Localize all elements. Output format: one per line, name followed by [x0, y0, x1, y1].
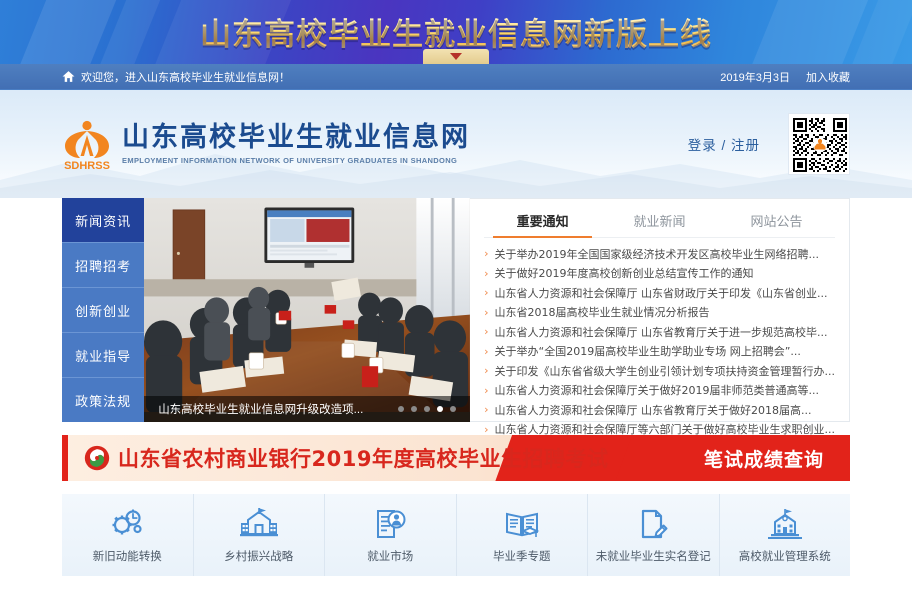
quick-link-unemployed-registration[interactable]: 未就业毕业生实名登记 — [588, 494, 720, 576]
quick-link-university-system[interactable]: 高校就业管理系统 — [720, 494, 851, 576]
carousel-dot[interactable] — [450, 406, 456, 412]
sidebar-item-guidance[interactable]: 就业指导 — [62, 333, 144, 378]
news-panel: 重要通知 就业新闻 网站公告 › 关于举办2019年全国国家级经济技术开发区高校… — [470, 198, 850, 422]
sidebar-item-label: 政策法规 — [75, 391, 131, 410]
chevron-right-icon: › — [484, 325, 488, 338]
quick-link-new-old-energy[interactable]: 新旧动能转换 — [62, 494, 194, 576]
list-item[interactable]: › 山东省人力资源和社会保障厅 山东省财政厅关于印发《山东省创业... — [484, 283, 835, 303]
current-date: 2019年3月3日 — [720, 69, 790, 85]
promo-headline: 山东高校毕业生就业信息网新版上线 — [0, 9, 912, 54]
sidebar-item-label: 招聘招考 — [75, 256, 131, 275]
list-item[interactable]: › 山东省人力资源和社会保障厅 山东省教育厅关于进一步规范高校毕... — [484, 322, 835, 342]
add-favorite-link[interactable]: 加入收藏 — [806, 69, 850, 85]
sidebar-item-label: 新闻资讯 — [75, 211, 131, 230]
tab-important-notice[interactable]: 重要通知 — [484, 207, 601, 237]
main-content: 新闻资讯 招聘招考 创新创业 就业指导 政策法规 — [0, 198, 912, 576]
top-section: 新闻资讯 招聘招考 创新创业 就业指导 政策法规 — [62, 198, 850, 422]
quick-link-label: 乡村振兴战略 — [224, 548, 293, 564]
list-item[interactable]: › 关于做好2019年度高校创新创业总结宣传工作的通知 — [484, 264, 835, 284]
welcome-bar: 欢迎您，进入山东高校毕业生就业信息网！ 2019年3月3日 加入收藏 — [0, 64, 912, 90]
document-pencil-icon — [638, 507, 668, 541]
welcome-text: 欢迎您，进入山东高校毕业生就业信息网！ — [81, 69, 290, 85]
quick-link-label: 毕业季专题 — [493, 548, 551, 564]
gears-timer-icon — [110, 507, 144, 541]
open-book-graduation-icon — [504, 507, 540, 541]
carousel-dot[interactable] — [411, 406, 417, 412]
news-title: 关于做好2019年度高校创新创业总结宣传工作的通知 — [495, 265, 754, 281]
chevron-right-icon: › — [484, 384, 488, 397]
brand-text-group: 山东高校毕业生就业信息网 EMPLOYMENT INFORMATION NETW… — [122, 123, 470, 166]
document-person-icon — [374, 507, 406, 541]
carousel-dot-active[interactable] — [437, 406, 443, 412]
carousel-dot[interactable] — [424, 406, 430, 412]
category-sidebar: 新闻资讯 招聘招考 创新创业 就业指导 政策法规 — [62, 198, 144, 422]
promo-banner[interactable]: 山东高校毕业生就业信息网新版上线 — [0, 0, 912, 64]
sidebar-item-innovation[interactable]: 创新创业 — [62, 288, 144, 333]
chevron-right-icon: › — [484, 364, 488, 377]
quick-link-label: 就业市场 — [367, 548, 413, 564]
news-title: 关于印发《山东省省级大学生创业引领计划专项扶持资金管理暂行办... — [495, 363, 836, 379]
list-item[interactable]: › 关于印发《山东省省级大学生创业引领计划专项扶持资金管理暂行办... — [484, 361, 835, 381]
welcome-greeting-group: 欢迎您，进入山东高校毕业生就业信息网！ — [62, 69, 290, 85]
chevron-right-icon: › — [484, 423, 488, 436]
qr-code-icon[interactable] — [788, 113, 850, 175]
news-title: 山东省人力资源和社会保障厅 山东省教育厅关于进一步规范高校毕... — [495, 324, 828, 340]
news-title: 山东省人力资源和社会保障厅 山东省财政厅关于印发《山东省创业... — [495, 285, 828, 301]
quick-link-rural-revitalization[interactable]: 乡村振兴战略 — [194, 494, 326, 576]
quick-link-label: 新旧动能转换 — [93, 548, 162, 564]
tab-label: 重要通知 — [517, 215, 569, 230]
school-building-icon — [240, 507, 278, 541]
chevron-right-icon: › — [484, 267, 488, 280]
news-title: 山东省2018届高校毕业生就业情况分析报告 — [495, 304, 710, 320]
sidebar-item-policy[interactable]: 政策法规 — [62, 378, 144, 422]
svg-text:SDHRSS: SDHRSS — [64, 160, 110, 171]
promo-collapse-tab[interactable] — [423, 49, 489, 64]
chevron-right-icon: › — [484, 306, 488, 319]
ad-cta-button[interactable]: 笔试成绩查询 — [704, 445, 824, 472]
sidebar-item-recruitment[interactable]: 招聘招考 — [62, 243, 144, 288]
welcome-right-group: 2019年3月3日 加入收藏 — [720, 69, 850, 85]
campus-building-icon — [767, 507, 803, 541]
site-title-cn: 山东高校毕业生就业信息网 — [122, 123, 470, 153]
news-list: › 关于举办2019年全国国家级经济技术开发区高校毕业生网络招聘... › 关于… — [484, 244, 835, 439]
tab-label: 网站公告 — [751, 215, 803, 230]
carousel-caption-text: 山东高校毕业生就业信息网升级改造项... — [158, 401, 363, 417]
caret-down-icon — [450, 53, 462, 60]
home-icon — [62, 70, 75, 83]
carousel-caption: 山东高校毕业生就业信息网升级改造项... — [144, 396, 470, 422]
quick-link-label: 高校就业管理系统 — [739, 548, 831, 564]
site-header: SDHRSS 山东高校毕业生就业信息网 EMPLOYMENT INFORMATI… — [0, 90, 912, 198]
hero-carousel[interactable]: 山东高校毕业生就业信息网升级改造项... — [144, 198, 470, 422]
news-title: 关于举办“全国2019届高校毕业生助学助业专场 网上招聘会”... — [495, 343, 801, 359]
news-title: 山东省人力资源和社会保障厅 山东省教育厅关于做好2018届高... — [495, 402, 812, 418]
news-tabs: 重要通知 就业新闻 网站公告 — [484, 207, 835, 238]
list-item[interactable]: › 山东省人力资源和社会保障厅 山东省教育厅关于做好2018届高... — [484, 400, 835, 420]
bank-logo-icon — [84, 445, 110, 471]
tab-site-announcement[interactable]: 网站公告 — [718, 207, 835, 237]
news-title: 关于举办2019年全国国家级经济技术开发区高校毕业生网络招聘... — [495, 246, 819, 262]
list-item[interactable]: › 山东省2018届高校毕业生就业情况分析报告 — [484, 303, 835, 323]
carousel-dots — [398, 406, 456, 412]
quick-link-job-market[interactable]: 就业市场 — [325, 494, 457, 576]
sidebar-item-label: 就业指导 — [75, 346, 131, 365]
meeting-room-photo — [144, 198, 470, 412]
header-inner: SDHRSS 山东高校毕业生就业信息网 EMPLOYMENT INFORMATI… — [0, 90, 912, 198]
ad-left-edge — [62, 435, 68, 481]
chevron-right-icon: › — [484, 247, 488, 260]
list-item[interactable]: › 关于举办“全国2019届高校毕业生助学助业专场 网上招聘会”... — [484, 342, 835, 362]
header-right-group: 登录 / 注册 — [688, 113, 850, 175]
tab-employment-news[interactable]: 就业新闻 — [601, 207, 718, 237]
bank-exam-ad-banner[interactable]: 山东省农村商业银行2019年度高校毕业生招聘考试 笔试成绩查询 — [62, 435, 850, 481]
list-item[interactable]: › 山东省人力资源和社会保障厅关于做好2019届非师范类普通高等... — [484, 381, 835, 401]
site-title-en: EMPLOYMENT INFORMATION NETWORK OF UNIVER… — [122, 156, 470, 165]
sidebar-item-label: 创新创业 — [75, 301, 131, 320]
quick-link-label: 未就业毕业生实名登记 — [596, 548, 711, 564]
list-item[interactable]: › 关于举办2019年全国国家级经济技术开发区高校毕业生网络招聘... — [484, 244, 835, 264]
site-brand[interactable]: SDHRSS 山东高校毕业生就业信息网 EMPLOYMENT INFORMATI… — [62, 117, 470, 171]
tab-label: 就业新闻 — [634, 215, 686, 230]
quick-link-graduation-season[interactable]: 毕业季专题 — [457, 494, 589, 576]
ad-title: 山东省农村商业银行2019年度高校毕业生招聘考试 — [118, 443, 608, 473]
chevron-right-icon: › — [484, 403, 488, 416]
carousel-dot[interactable] — [398, 406, 404, 412]
news-title: 山东省人力资源和社会保障厅关于做好2019届非师范类普通高等... — [495, 382, 819, 398]
chevron-right-icon: › — [484, 345, 488, 358]
sidebar-item-news[interactable]: 新闻资讯 — [62, 198, 144, 243]
sdhrss-logo-icon: SDHRSS — [62, 117, 112, 171]
login-register-link[interactable]: 登录 / 注册 — [688, 134, 760, 154]
quick-links-row: 新旧动能转换 — [62, 494, 850, 576]
chevron-right-icon: › — [484, 286, 488, 299]
